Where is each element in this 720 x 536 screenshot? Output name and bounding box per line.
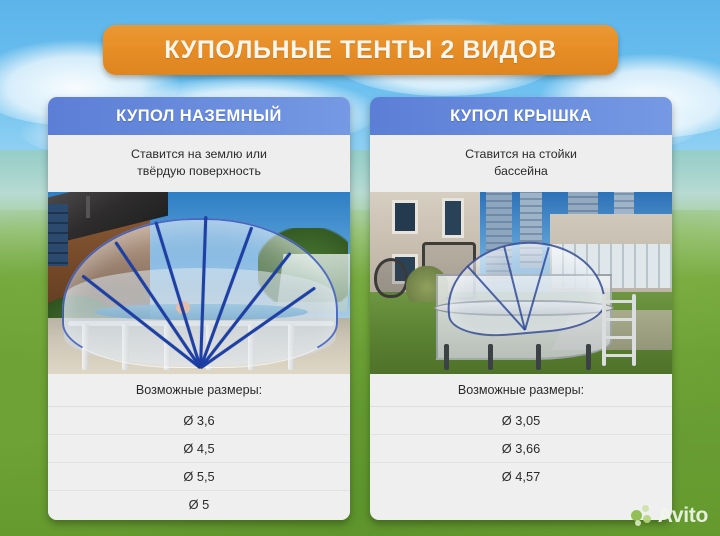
photo-pool-leg	[444, 344, 449, 370]
card-header-ground-dome: КУПОЛ НАЗЕМНЫЙ	[48, 97, 350, 135]
card-subtitle-line-2: бассейна	[380, 163, 662, 180]
photo-pool-leg	[586, 344, 591, 370]
photo-chimney	[86, 196, 90, 218]
photo-pool-leg	[536, 344, 541, 370]
product-card-lid-dome: КУПОЛ КРЫШКА Ставится на стойки бассейна	[370, 97, 672, 520]
sizes-section-lid-dome: Возможные размеры: Ø 3,05 Ø 3,66 Ø 4,57	[370, 374, 672, 492]
size-row: Ø 5	[48, 491, 350, 520]
card-title: КУПОЛ КРЫШКА	[450, 107, 592, 126]
card-header-lid-dome: КУПОЛ КРЫШКА	[370, 97, 672, 135]
photo-pool-leg	[488, 344, 493, 370]
product-card-ground-dome: КУПОЛ НАЗЕМНЫЙ Ставится на землю или твё…	[48, 97, 350, 520]
size-row: Ø 3,05	[370, 407, 672, 435]
photo-solar-panel	[48, 204, 68, 266]
card-title: КУПОЛ НАЗЕМНЫЙ	[116, 107, 282, 126]
photo-window	[442, 198, 464, 238]
avito-logo-icon	[631, 505, 653, 527]
card-subtitle-ground-dome: Ставится на землю или твёрдую поверхност…	[48, 135, 350, 192]
card-subtitle-lid-dome: Ставится на стойки бассейна	[370, 135, 672, 192]
photo-window	[392, 200, 418, 234]
card-subtitle-line-2: твёрдую поверхность	[58, 163, 340, 180]
size-row: Ø 4,5	[48, 435, 350, 463]
size-row: Ø 5,5	[48, 463, 350, 491]
page-title: КУПОЛЬНЫЕ ТЕНТЫ 2 ВИДОВ	[164, 36, 557, 65]
photo-hanging-chair	[374, 258, 408, 298]
card-subtitle-line-1: Ставится на стойки	[380, 146, 662, 163]
product-photo-ground-dome	[48, 192, 350, 374]
size-row: Ø 3,6	[48, 407, 350, 435]
avito-wordmark: Avito	[658, 504, 708, 528]
sizes-title: Возможные размеры:	[48, 374, 350, 407]
product-photo-lid-dome	[370, 192, 672, 374]
sizes-title: Возможные размеры:	[370, 374, 672, 407]
size-row: Ø 3,66	[370, 435, 672, 463]
card-subtitle-line-1: Ставится на землю или	[58, 146, 340, 163]
title-banner: КУПОЛЬНЫЕ ТЕНТЫ 2 ВИДОВ	[103, 25, 618, 75]
photo-pool-ladder	[602, 294, 636, 366]
sizes-section-ground-dome: Возможные размеры: Ø 3,6 Ø 4,5 Ø 5,5 Ø 5	[48, 374, 350, 520]
comparison-cards: КУПОЛ НАЗЕМНЫЙ Ставится на землю или твё…	[48, 97, 672, 520]
size-row: Ø 4,57	[370, 463, 672, 492]
avito-watermark: Avito	[631, 504, 708, 528]
